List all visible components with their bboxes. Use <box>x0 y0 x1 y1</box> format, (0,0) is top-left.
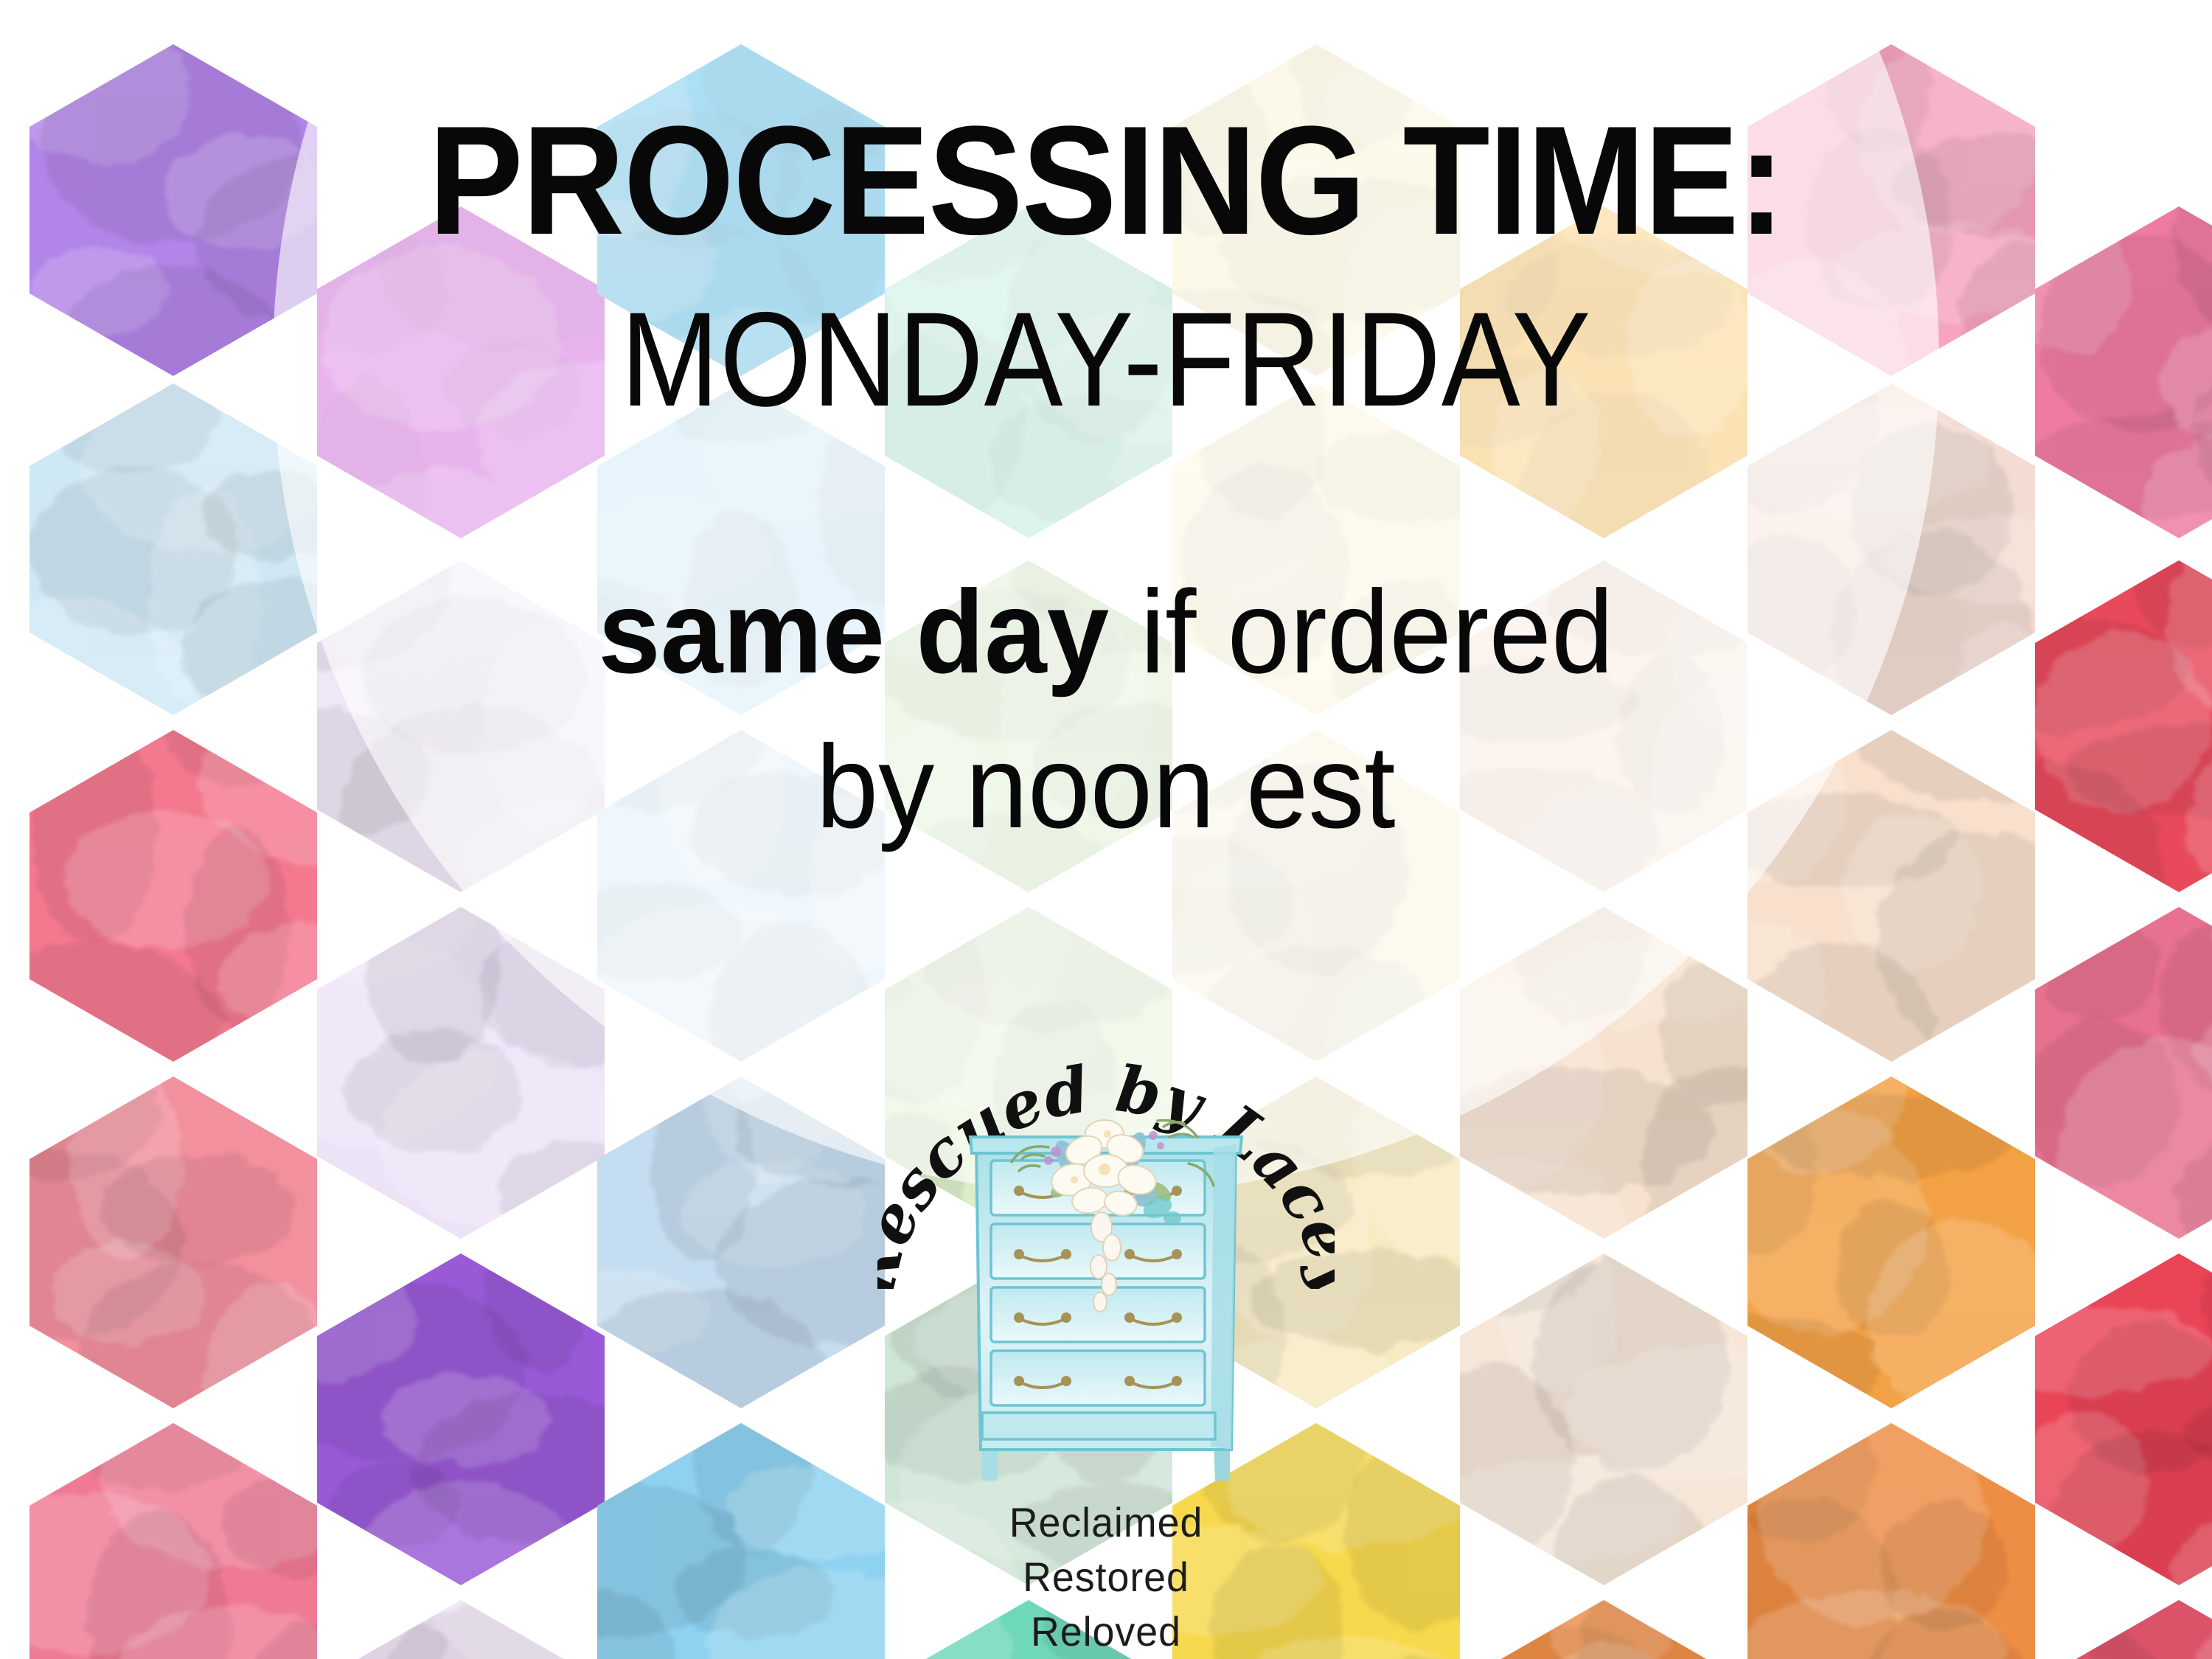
tagline-line-2: Restored <box>886 1550 1325 1604</box>
body-line-1-rest: if ordered <box>1109 566 1613 698</box>
tagline-line-1: Reclaimed <box>886 1495 1325 1550</box>
body-line-1: same day if ordered <box>598 559 1613 705</box>
page-subtitle: MONDAY-FRIDAY <box>621 292 1592 426</box>
tagline-line-3: Reloved <box>886 1604 1325 1659</box>
dresser-illustration-icon <box>960 1118 1252 1486</box>
body-emphasis: same day <box>598 566 1109 698</box>
poster-canvas: PROCESSING TIME: MONDAY-FRIDAY same day … <box>0 0 2212 1659</box>
page-title: PROCESSING TIME: <box>428 103 1784 258</box>
body-line-2: by noon est <box>816 714 1396 860</box>
brand-tagline: Reclaimed Restored Reloved <box>877 1495 1335 1659</box>
brand-logo: Rescued by Lacey <box>877 1023 1335 1643</box>
